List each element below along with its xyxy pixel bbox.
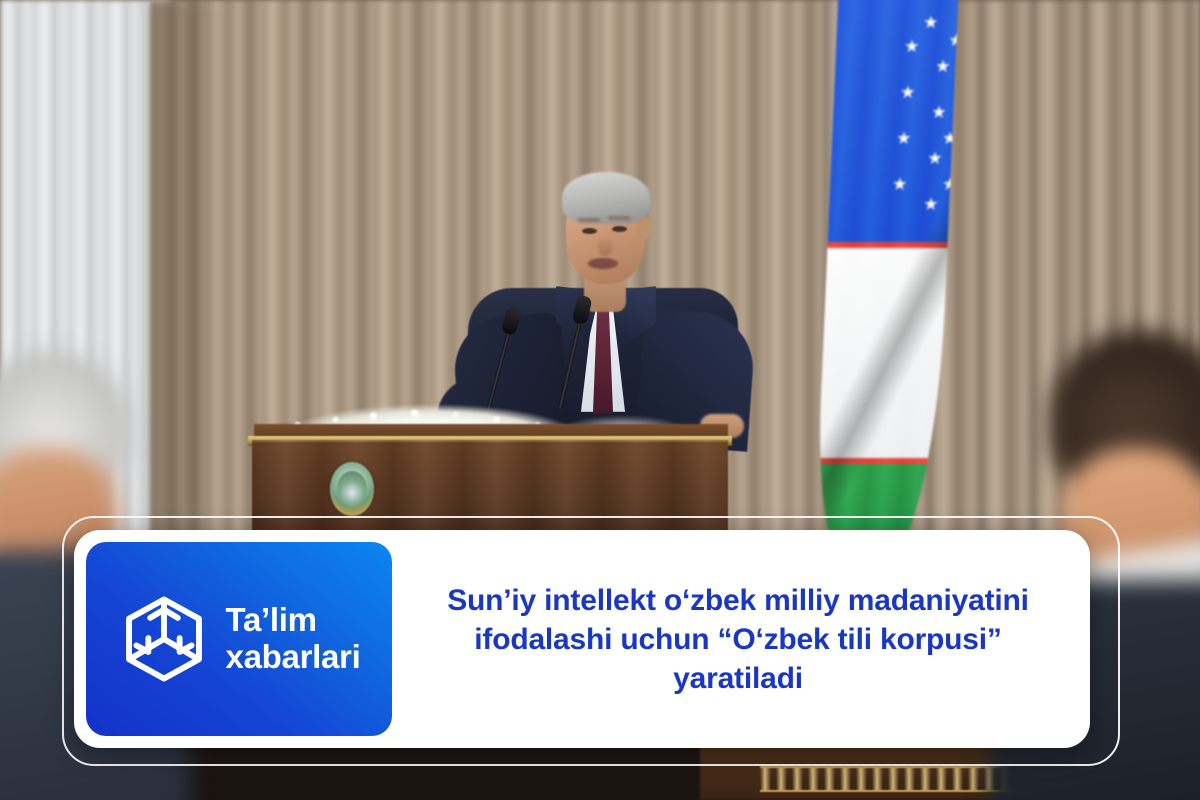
headline-area: Sun’iy intellekt o‘zbek milliy madaniyat… [392,530,1090,748]
speaker-eyebrow-left [578,218,600,222]
speaker-hair [562,172,650,224]
speaker-eye-right [612,226,627,232]
speaker-mouth [588,258,618,269]
brand-logo-box[interactable]: Ta’lim xabarlari [86,542,392,736]
banner-image: ★ ★ ★ ★ ★ ★ ★ ★ ★ ★ ★ ★ [0,0,1200,800]
uzbekistan-flag: ★ ★ ★ ★ ★ ★ ★ ★ ★ ★ ★ ★ [813,0,958,570]
brand-wordmark: Ta’lim xabarlari [226,602,361,676]
overlay-headline-card: Ta’lim xabarlari Sun’iy intellekt o‘zbek… [74,530,1090,748]
uzbekistan-state-emblem [330,462,374,516]
speaker-eye-left [582,228,597,234]
headline-text: Sun’iy intellekt o‘zbek milliy madaniyat… [416,581,1060,698]
brand-line-1: Ta’lim [226,602,361,639]
speaker-nose [598,236,612,256]
flag-drape-shadow [813,0,958,570]
brand-line-2: xabarlari [226,639,361,676]
cube-box-icon [118,593,210,685]
speaker-eyebrow-right [608,216,630,220]
